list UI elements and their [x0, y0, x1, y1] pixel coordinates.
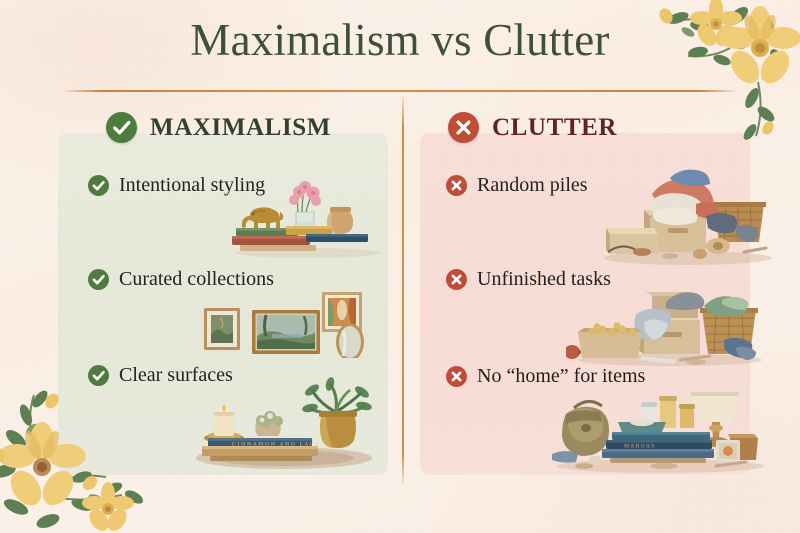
- maximalism-header-label: MAXIMALISM: [150, 114, 331, 142]
- list-item-label: Random piles: [477, 174, 588, 197]
- illustration-clear-surfaces: CINNAMON AND LACE: [186, 374, 376, 470]
- list-item: Clear surfaces: [88, 364, 233, 387]
- check-circle-icon: [106, 112, 137, 143]
- illustration-curated-collections: [196, 288, 376, 358]
- list-item: Intentional styling: [88, 174, 265, 197]
- maximalism-column-header: MAXIMALISM: [106, 112, 331, 143]
- page-title: Maximalism vs Clutter: [0, 16, 800, 66]
- illustration-unfinished-tasks: [566, 282, 766, 366]
- clutter-header-label: CLUTTER: [492, 114, 617, 142]
- list-item-label: Intentional styling: [119, 174, 265, 197]
- svg-text:MARGAS: MARGAS: [624, 443, 656, 449]
- clutter-column-header: CLUTTER: [448, 112, 617, 143]
- list-item: Unfinished tasks: [446, 268, 611, 291]
- illustration-no-home-for-items: MARGAS: [544, 378, 770, 474]
- list-item-label: Clear surfaces: [119, 364, 233, 387]
- list-item: Curated collections: [88, 268, 274, 291]
- x-circle-icon: [448, 112, 479, 143]
- list-item-label: Curated collections: [119, 268, 274, 291]
- column-divider: [402, 96, 404, 484]
- x-circle-icon: [446, 269, 467, 290]
- illustration-random-piles: [596, 160, 776, 266]
- list-item: No “home” for items: [446, 365, 645, 388]
- check-circle-icon: [88, 365, 109, 386]
- x-circle-icon: [446, 366, 467, 387]
- check-circle-icon: [88, 269, 109, 290]
- title-divider: [60, 90, 740, 92]
- list-item-label: Unfinished tasks: [477, 268, 611, 291]
- check-circle-icon: [88, 175, 109, 196]
- list-item: Random piles: [446, 174, 588, 197]
- list-item-label: No “home” for items: [477, 365, 645, 388]
- infographic-canvas: Maximalism vs Clutter MAXIMALISM CLUTTER…: [0, 0, 800, 533]
- x-circle-icon: [446, 175, 467, 196]
